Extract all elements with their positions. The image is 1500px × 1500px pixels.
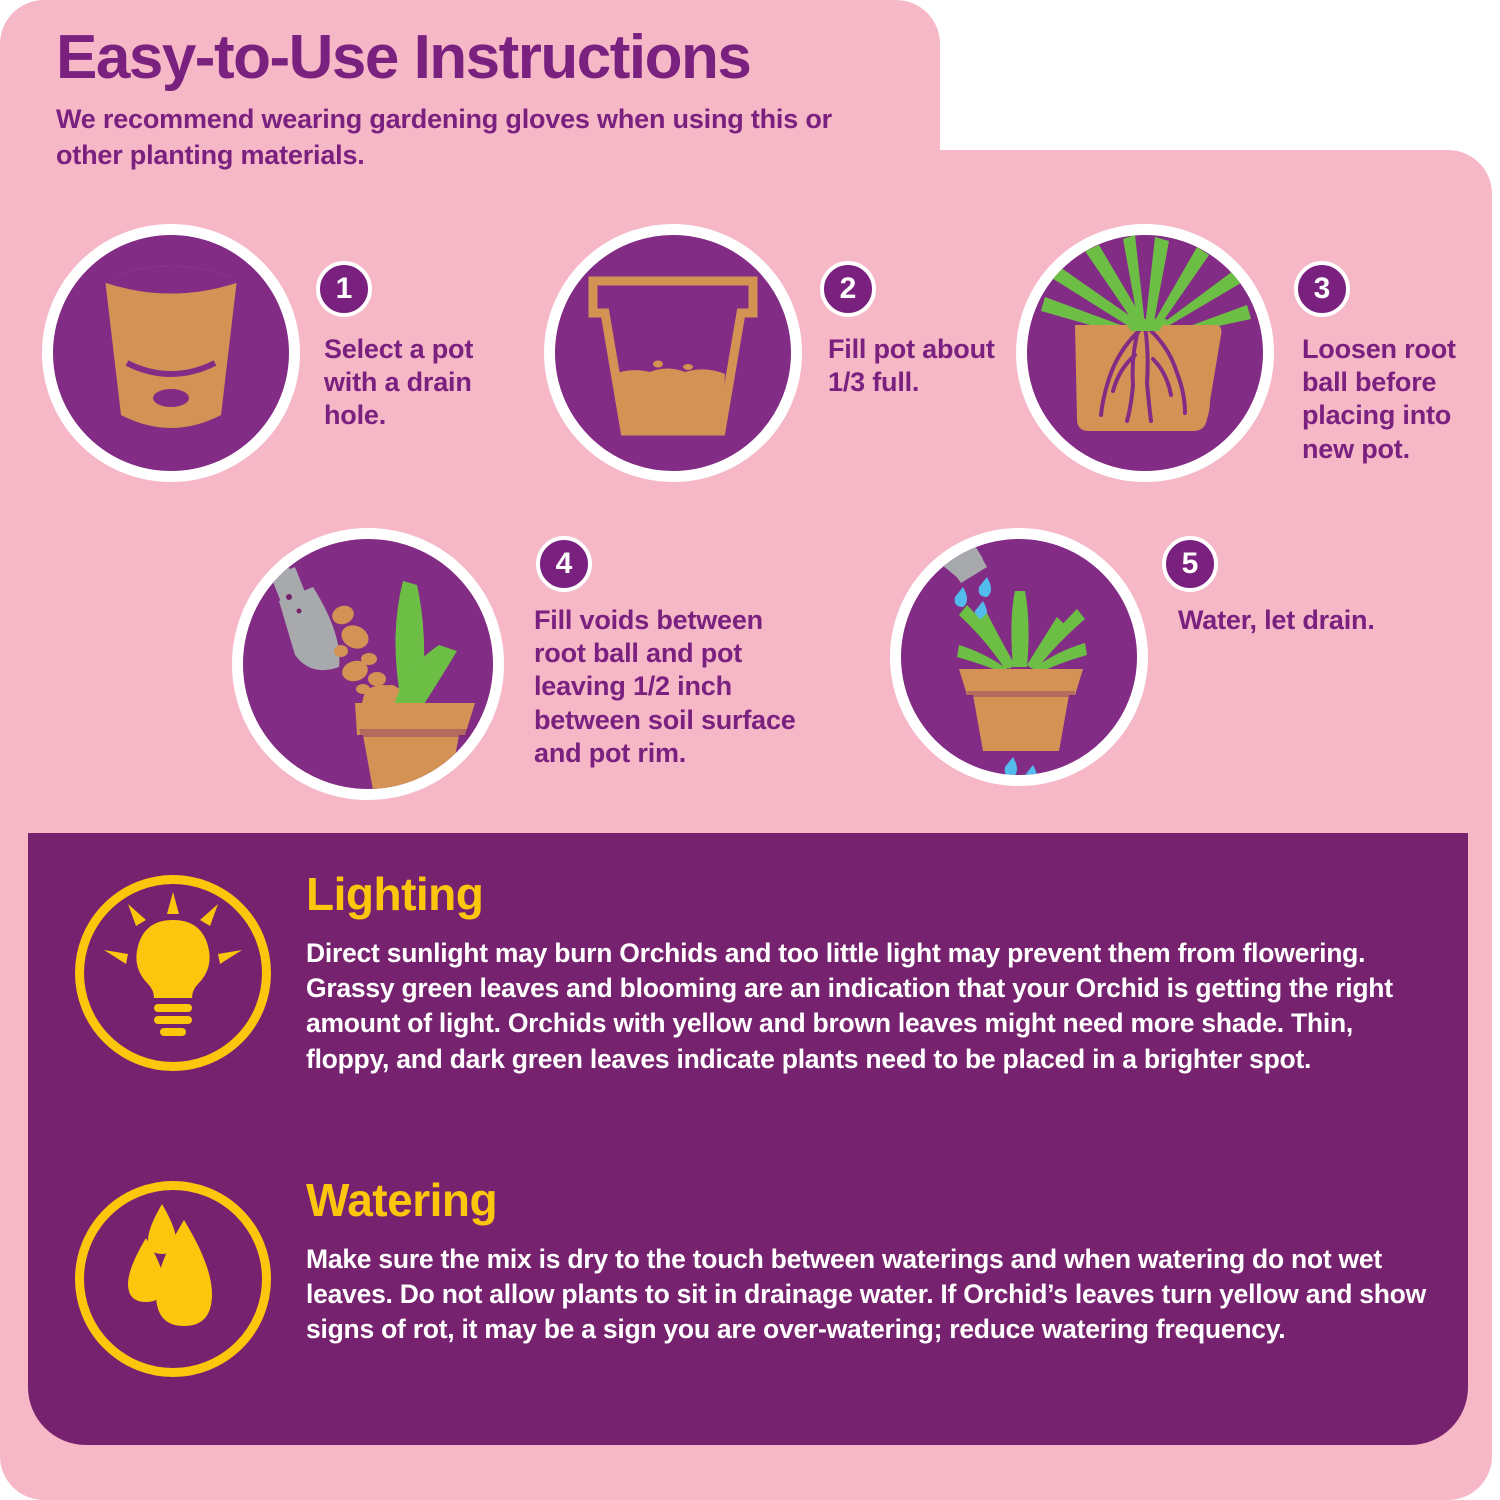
step-4-number-badge: 4 <box>536 536 592 592</box>
care-instructions-panel: Lighting Direct sunlight may burn Orchid… <box>28 833 1468 1445</box>
step-4-illustration <box>232 528 504 800</box>
step-3-illustration <box>1016 224 1274 482</box>
step-4-text: Fill voids between root ball and pot lea… <box>534 604 816 770</box>
lightbulb-icon <box>75 875 271 1071</box>
watering-heading: Watering <box>306 1177 497 1223</box>
step-5-number-badge: 5 <box>1162 536 1218 592</box>
lighting-body: Direct sunlight may burn Orchids and too… <box>306 936 1426 1077</box>
pot-bottom-drain-hole-icon <box>42 224 300 482</box>
plant-root-ball-icon <box>1016 224 1274 482</box>
lighting-heading: Lighting <box>306 871 483 917</box>
step-1-text: Select a pot with a drain hole. <box>324 333 514 433</box>
watering-can-potted-plant-icon <box>890 528 1148 786</box>
step-2-number-badge: 2 <box>820 261 876 317</box>
water-drops-icon <box>75 1181 271 1377</box>
step-2-illustration <box>544 224 802 482</box>
page-title: Easy-to-Use Instructions <box>56 26 936 90</box>
pot-one-third-soil-icon <box>544 224 802 482</box>
step-1-number-badge: 1 <box>316 261 372 317</box>
header: Easy-to-Use Instructions We recommend we… <box>56 26 936 173</box>
trowel-pouring-soil-icon <box>232 528 504 800</box>
step-3-number-badge: 3 <box>1294 261 1350 317</box>
watering-body: Make sure the mix is dry to the touch be… <box>306 1242 1426 1348</box>
step-5-text: Water, let drain. <box>1178 604 1438 637</box>
step-3-text: Loosen root ball before placing into new… <box>1302 333 1492 466</box>
step-1-illustration <box>42 224 300 482</box>
step-5-illustration <box>890 528 1148 786</box>
page-subtitle: We recommend wearing gardening gloves wh… <box>56 102 876 172</box>
step-2-text: Fill pot about 1/3 full. <box>828 333 1028 399</box>
